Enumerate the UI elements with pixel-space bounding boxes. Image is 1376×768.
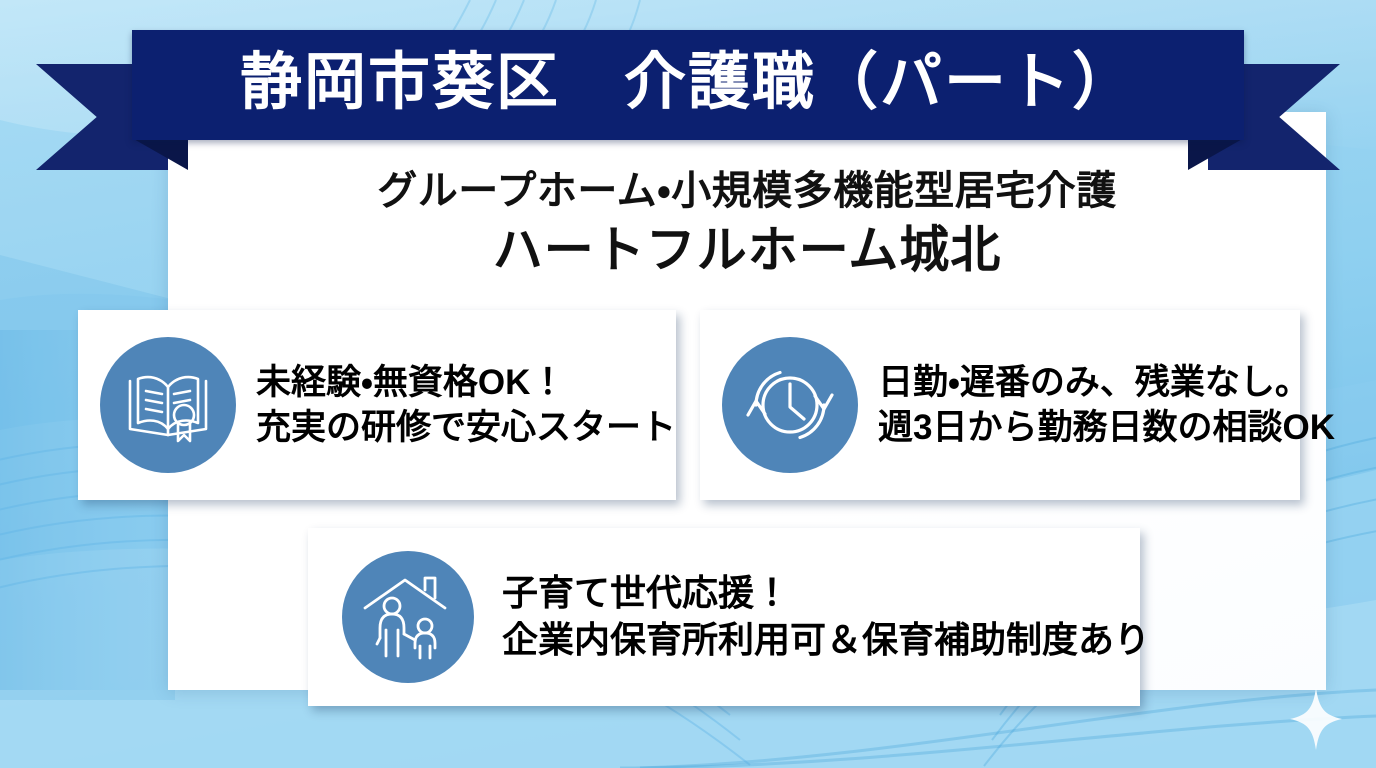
feature-card-shift-text: 日勤・遅番のみ、残業なし。 週3日から勤務日数の相談OK [878, 360, 1335, 451]
four-point-sparkle-icon [1290, 688, 1342, 750]
feature-card-experience-text: 未経験・無資格OK！ 充実の研修で安心スタート [256, 360, 676, 451]
ribbon-band: 静岡市葵区 介護職（パート） [132, 30, 1244, 140]
clock-refresh-icon [722, 337, 858, 473]
card-line-2: 企業内保育所利用可＆保育補助制度あり [502, 617, 1150, 664]
card-line-2: 充実の研修で安心スタート [256, 405, 676, 451]
feature-card-experience: 未経験・無資格OK！ 充実の研修で安心スタート [78, 310, 676, 500]
card-line-2: 週3日から勤務日数の相談OK [878, 405, 1335, 451]
banner-ribbon: 静岡市葵区 介護職（パート） [36, 30, 1340, 170]
banner-title: 静岡市葵区 介護職（パート） [132, 30, 1244, 140]
card-line-1: 未経験・無資格OK！ [256, 360, 676, 406]
service-type-label: グループホーム・小規模多機能型居宅介護 [168, 168, 1326, 214]
feature-card-childcare: 子育て世代応援！ 企業内保育所利用可＆保育補助制度あり [308, 528, 1140, 706]
facility-name-title: ハートフルホーム城北 [168, 222, 1326, 278]
heading-block: グループホーム・小規模多機能型居宅介護 ハートフルホーム城北 [168, 168, 1326, 278]
feature-card-childcare-text: 子育て世代応援！ 企業内保育所利用可＆保育補助制度あり [502, 570, 1150, 664]
feature-card-shift: 日勤・遅番のみ、残業なし。 週3日から勤務日数の相談OK [700, 310, 1300, 500]
poster-canvas: 静岡市葵区 介護職（パート） グループホーム・小規模多機能型居宅介護 ハートフル… [0, 0, 1376, 768]
open-book-certificate-icon [100, 337, 236, 473]
card-line-1: 子育て世代応援！ [502, 570, 1150, 617]
family-under-roof-icon [342, 551, 474, 683]
card-line-1: 日勤・遅番のみ、残業なし。 [878, 360, 1335, 406]
